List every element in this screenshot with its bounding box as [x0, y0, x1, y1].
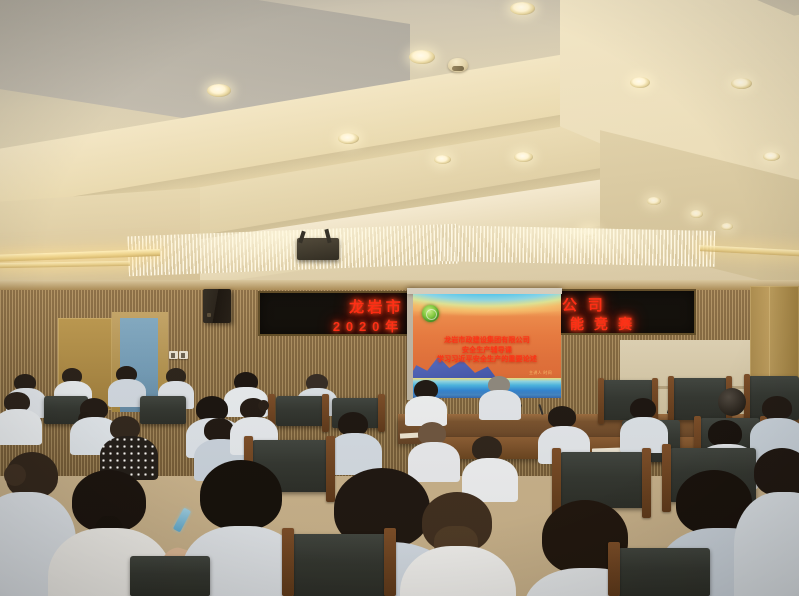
downlight-icon [721, 223, 733, 230]
downlight-icon [338, 133, 359, 144]
chair-backrest [140, 396, 186, 424]
chair-backrest [276, 396, 324, 426]
led-banner-right-line2: 能 竞 赛 [570, 314, 635, 334]
chair-frame [378, 394, 385, 432]
chair-frame [598, 378, 604, 424]
chair-frame [662, 444, 671, 512]
audience-chair [276, 396, 324, 426]
chair-frame [322, 394, 329, 432]
audience-chair [140, 396, 186, 424]
downlight-icon [207, 84, 231, 97]
chair-backrest [560, 452, 644, 508]
downlight-icon [514, 152, 533, 162]
chair-frame [642, 448, 651, 518]
hair [708, 420, 742, 447]
downlight-icon [731, 78, 752, 89]
chair-frame [384, 528, 396, 596]
slide-footer: 主讲人 时间 [529, 370, 552, 376]
downlight-icon [647, 197, 661, 205]
led-banner-left-line1: 龙岩市 [349, 296, 404, 317]
hair-bun [258, 400, 269, 411]
wall-speaker [203, 289, 231, 323]
hair [200, 460, 282, 530]
conference-hall-photo: 龙岩市 2020年 公 司 能 竞 赛 龙岩市政建设集团有限公司 安全生产辅导课… [0, 0, 799, 596]
audience-chair [560, 452, 644, 508]
shirt [408, 442, 460, 482]
chair-frame [668, 376, 674, 424]
downlight-icon [434, 155, 451, 164]
power-outlet [179, 351, 188, 359]
hair [548, 406, 576, 428]
shirt [479, 390, 521, 420]
hair [762, 396, 792, 420]
downlight-icon [690, 210, 703, 218]
downlight-icon [510, 2, 535, 15]
speaker-led [207, 313, 211, 317]
smoke-detector-icon [448, 58, 468, 72]
chair-frame [282, 528, 294, 596]
smartphone [173, 508, 191, 533]
chandelier-glow [440, 225, 716, 267]
slide-title-line-2: 安全生产辅导课 [413, 346, 561, 356]
safety-emblem-icon [422, 305, 439, 322]
hair [630, 398, 656, 419]
chair-backrest [130, 556, 210, 596]
crystal-chandelier-right [440, 225, 716, 267]
downlight-icon [630, 77, 650, 88]
audience-chair-foreground [130, 556, 210, 596]
led-banner-left-line2: 2020年 [333, 316, 404, 335]
chair-backrest [292, 534, 388, 596]
downlight-icon [409, 50, 435, 64]
dark-round-object [718, 388, 746, 416]
chair-frame [326, 436, 335, 502]
audience-chair-foreground [292, 534, 388, 596]
slide-title-line-3: 学习习近平安全生产的重要论述 [413, 355, 561, 365]
led-banner-left: 龙岩市 2020年 [258, 291, 410, 336]
shirt [405, 396, 447, 426]
led-banner-right: 公 司 能 竞 赛 [556, 289, 696, 335]
shirt [0, 409, 42, 445]
power-outlet [169, 351, 178, 359]
chair-backrest [618, 548, 710, 596]
slide-title-line-1: 龙岩市政建设集团有限公司 [413, 336, 561, 346]
hair [754, 448, 799, 496]
audience-chair-foreground [618, 548, 710, 596]
downlight-icon [763, 152, 780, 161]
chair-frame [608, 542, 620, 596]
ceiling-projector [297, 238, 339, 260]
led-banner-right-line1: 公 司 [562, 294, 606, 315]
slide-title: 龙岩市政建设集团有限公司 安全生产辅导课 学习习近平安全生产的重要论述 [413, 336, 561, 365]
hair-bun [4, 464, 26, 486]
